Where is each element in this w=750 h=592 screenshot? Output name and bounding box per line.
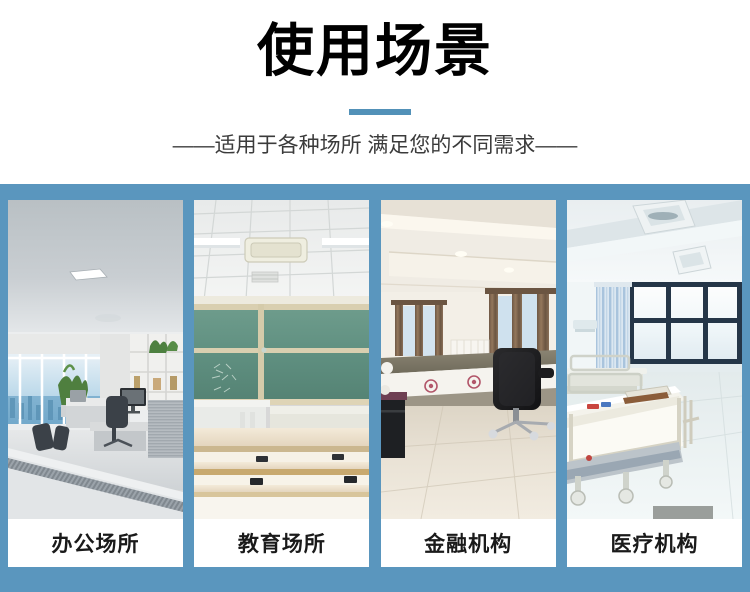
- use-case-label-education: 教育场所: [194, 519, 369, 567]
- page-subtitle: ——适用于各种场所 满足您的不同需求——: [0, 131, 750, 161]
- use-case-label-medical: 医疗机构: [567, 519, 742, 567]
- page-title: 使用场景: [0, 16, 750, 86]
- bank-lobby-photo: [381, 200, 556, 519]
- use-case-card-office[interactable]: 办公场所: [8, 200, 183, 567]
- page-header: 使用场景 ——适用于各种场所 满足您的不同需求——: [0, 0, 750, 184]
- use-case-label-finance: 金融机构: [381, 519, 556, 567]
- use-case-label-office: 办公场所: [8, 519, 183, 567]
- use-case-card-finance[interactable]: 金融机构: [381, 200, 556, 567]
- hospital-ward-photo: [567, 200, 742, 519]
- use-case-card-education[interactable]: 教育场所: [194, 200, 369, 567]
- use-case-card-medical[interactable]: 医疗机构: [567, 200, 742, 567]
- office-interior-photo: [8, 200, 183, 519]
- classroom-interior-photo: [194, 200, 369, 519]
- title-underline-accent: [349, 109, 411, 115]
- use-cases-page: 使用场景 ——适用于各种场所 满足您的不同需求——: [0, 0, 750, 592]
- use-case-cards-row: 办公场所: [8, 200, 742, 567]
